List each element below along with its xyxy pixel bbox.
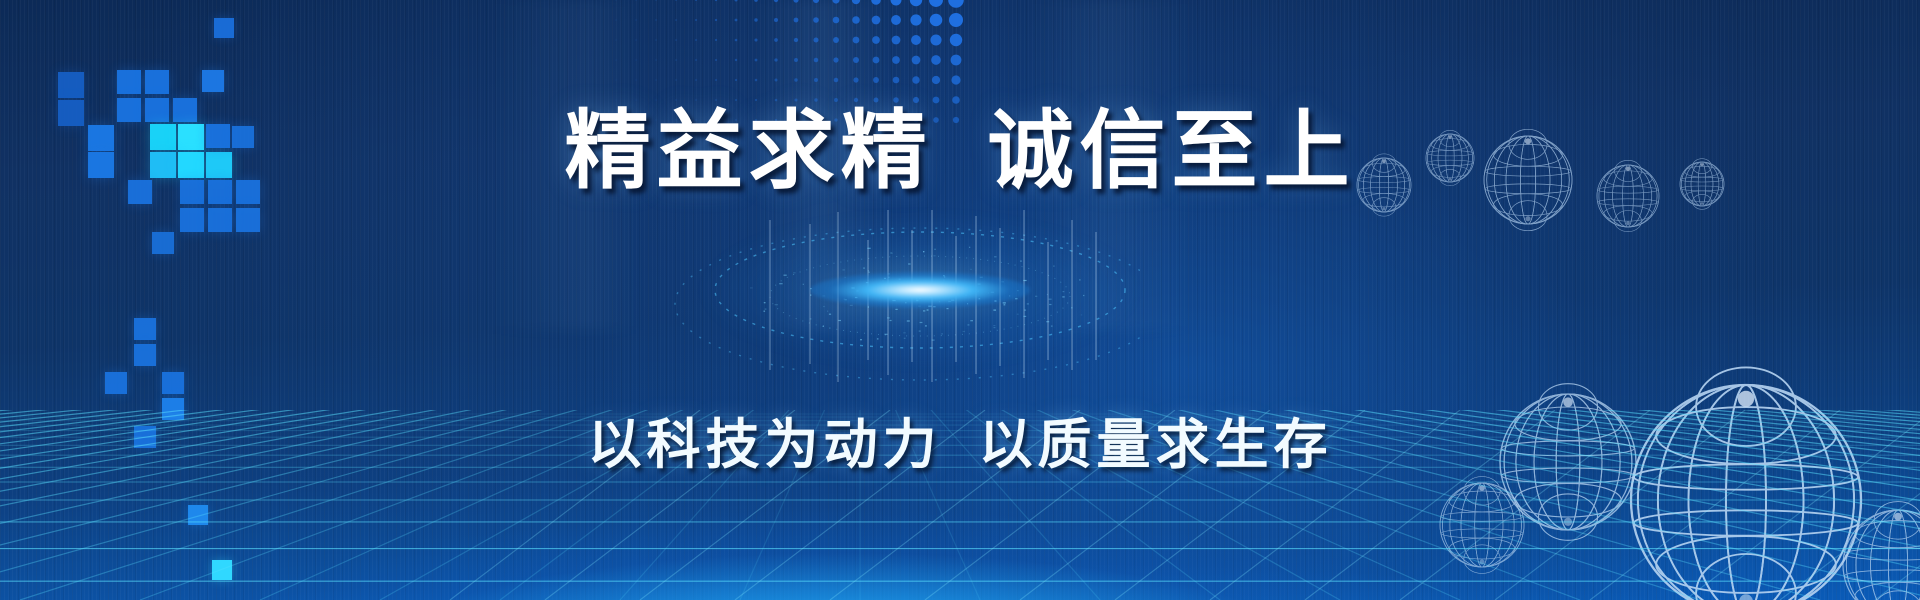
orbit-particle (928, 306, 931, 307)
mosaic-pixel (58, 72, 84, 98)
orbit-particle (823, 326, 824, 327)
mosaic-pixel (188, 505, 208, 525)
orbit-particle (918, 306, 921, 307)
hero-banner: 精益求精 诚信至上 以科技为动力 以质量求生存 (0, 0, 1920, 600)
orbit-particle (1024, 310, 1026, 311)
orbit-particle (920, 294, 922, 295)
orbit-particle (944, 276, 945, 277)
orbit-particle (994, 300, 996, 301)
orbit-particle (933, 306, 936, 307)
orbit-particle (970, 320, 973, 321)
orbit-particle (920, 294, 921, 295)
orbit-particle (923, 251, 924, 252)
orbit-particle (1009, 295, 1010, 296)
globe-bottom-large (1631, 367, 1861, 600)
orbit-particle (911, 287, 913, 288)
orbit-particle (979, 298, 981, 299)
orbit-particle (863, 268, 865, 269)
orbit-particle (970, 269, 971, 270)
orbit-particle (866, 282, 869, 283)
orbit-rings-and-beams (620, 210, 1140, 450)
banner-headline: 精益求精 诚信至上 (0, 108, 1920, 194)
orbit-particle (892, 253, 893, 254)
orbit-particle (810, 318, 812, 319)
orbit-particle (920, 291, 922, 292)
orbit-particle (974, 291, 975, 292)
orbit-particle (980, 277, 983, 278)
mosaic-pixel (208, 208, 232, 232)
orbit-particle (963, 331, 965, 332)
orbit-particle (860, 339, 862, 340)
orbit-particle (933, 255, 935, 256)
orbit-particle (855, 297, 858, 298)
orbit-particle (882, 280, 883, 281)
orbit-particle (764, 311, 766, 312)
orbit-particle (1051, 326, 1053, 327)
orbit-particle (994, 327, 996, 328)
orbit-particle (988, 292, 989, 293)
orbit-particle (978, 284, 981, 285)
mosaic-pixel (145, 70, 169, 94)
orbit-particle (993, 325, 995, 326)
orbit-particle (929, 296, 931, 297)
orbit-particle (1083, 295, 1084, 296)
orbit-particle (899, 279, 901, 280)
orbit-particle (793, 272, 796, 273)
orbit-particle (920, 322, 923, 323)
orbit-particle (939, 301, 940, 302)
mosaic-pixel (236, 208, 260, 232)
orbit-particle (1023, 280, 1026, 281)
orbit-particle (823, 306, 825, 307)
orbit-particle (1027, 303, 1029, 304)
orbit-particle (932, 340, 935, 341)
orbit-particle (1079, 279, 1081, 280)
orbit-particle (916, 298, 918, 299)
orbit-particle (844, 299, 845, 300)
orbit-particle (1062, 296, 1064, 297)
orbit-particle (977, 291, 979, 292)
orbit-particle (877, 338, 879, 339)
orbit-particle (1004, 304, 1006, 305)
orbit-ring (675, 228, 1140, 380)
orbit-particle (952, 288, 954, 289)
mosaic-pixel (212, 560, 232, 580)
orbit-particle (951, 300, 954, 301)
orbit-particle (851, 287, 854, 288)
orbit-particle (765, 309, 767, 310)
orbit-particle (1081, 314, 1082, 315)
orbit-particle (923, 310, 925, 311)
orbit-particle (919, 331, 921, 332)
mosaic-pixel (162, 398, 184, 420)
orbit-particle (845, 277, 846, 278)
orbit-particle (969, 291, 970, 292)
orbit-particle (895, 309, 897, 310)
orbit-particle (1049, 304, 1051, 305)
orbit-particle (909, 283, 911, 284)
orbit-particle (969, 247, 970, 248)
orbit-core-group (620, 210, 1140, 450)
orbit-particle (856, 290, 858, 291)
orbit-particle (1047, 294, 1048, 295)
orbit-particle (822, 295, 825, 296)
orbit-particle (907, 320, 910, 321)
orbit-particle (993, 310, 996, 311)
orbit-particle (1071, 307, 1073, 308)
orbit-particle (803, 284, 804, 285)
orbit-particle (945, 285, 948, 286)
mosaic-pixel (117, 70, 141, 94)
orbit-particle (784, 275, 787, 276)
orbit-particle (968, 324, 970, 325)
orbit-particle (1046, 321, 1049, 322)
orbit-particle (943, 279, 945, 280)
orbit-particle (926, 295, 928, 296)
orbit-particle (750, 287, 753, 288)
mosaic-pixel (134, 318, 156, 340)
orbit-particle (963, 285, 964, 286)
orbit-particle (810, 288, 811, 289)
orbit-particle (885, 334, 888, 335)
orbit-particle (1001, 281, 1004, 282)
mosaic-pixel (105, 372, 127, 394)
orbit-particle (867, 248, 870, 249)
orbit-particle (868, 270, 869, 271)
orbit-particle (994, 256, 996, 257)
orbit-particle (838, 320, 841, 321)
orbit-particle (843, 269, 845, 270)
globe-bottom-small (1440, 477, 1524, 574)
orbit-particle (1020, 261, 1022, 262)
orbit-particle (947, 308, 949, 309)
orbit-particle (903, 332, 906, 333)
orbit-particle (965, 295, 966, 296)
orbit-particle (850, 305, 853, 306)
orbit-particle (967, 303, 968, 304)
orbit-particle (908, 263, 911, 264)
orbit-particle (869, 272, 870, 273)
orbit-particle (934, 249, 935, 250)
orbit-particle (868, 306, 869, 307)
vertical-scanline-texture (0, 0, 1920, 600)
orbit-particle (965, 290, 966, 291)
orbit-particle (764, 302, 766, 303)
orbit-particle (991, 292, 994, 293)
banner-subheadline: 以科技为动力 以质量求生存 (0, 418, 1920, 472)
core-halo (705, 215, 1135, 365)
orbit-particle (888, 273, 891, 274)
orbit-particle (929, 297, 932, 298)
orbit-particle (943, 275, 945, 276)
orbit-particle (920, 295, 923, 296)
orbit-particle (779, 283, 782, 284)
orbit-particle (941, 333, 942, 334)
orbit-particle (810, 295, 811, 296)
orbit-particle (917, 292, 919, 293)
orbit-particle (829, 328, 830, 329)
orbit-particle (944, 293, 946, 294)
mosaic-pixel (152, 232, 174, 254)
orbit-particle (919, 298, 921, 299)
orbit-particle (890, 320, 892, 321)
orbit-particle (948, 301, 951, 302)
orbit-particle (892, 300, 895, 301)
orbit-particle (925, 325, 927, 326)
mosaic-pixel (162, 372, 184, 394)
orbit-particle (879, 293, 881, 294)
orbit-particle (1035, 296, 1037, 297)
vertical-stripe-texture (0, 0, 1920, 600)
orbit-particle (960, 289, 962, 290)
orbit-particle (905, 302, 906, 303)
orbit-particle (1023, 316, 1026, 317)
mosaic-pixel (214, 18, 234, 38)
orbit-particle (904, 338, 906, 339)
orbit-particle (845, 299, 847, 300)
mosaic-pixel (202, 70, 224, 92)
mosaic-pixel (134, 344, 156, 366)
orbit-particle (1053, 266, 1054, 267)
orbit-particle (887, 317, 890, 318)
orbit-particle (1063, 291, 1065, 292)
orbit-particle (917, 294, 920, 295)
orbit-particle (928, 289, 930, 290)
orbit-particle (827, 311, 828, 312)
orbit-particle-arc (770, 256, 1070, 336)
orbit-particle (888, 277, 890, 278)
mosaic-pixel (180, 208, 204, 232)
orbit-particle (916, 299, 919, 300)
orbit-particle (884, 278, 886, 279)
core-glow (810, 272, 1030, 308)
orbit-particle (775, 304, 778, 305)
orbit-particle (1017, 314, 1019, 315)
orbit-ring (715, 232, 1125, 348)
globe-bottom-right (1843, 502, 1920, 600)
orbit-particle (829, 314, 831, 315)
orbit-particle (1003, 302, 1006, 303)
orbit-particle (1017, 290, 1019, 291)
orbit-particle (890, 252, 892, 253)
orbit-particle (1015, 298, 1017, 299)
orbit-particle (927, 309, 929, 310)
wireframe-globe-cluster (1280, 0, 1920, 600)
orbit-particle (916, 300, 918, 301)
orbit-particle (1049, 299, 1052, 300)
